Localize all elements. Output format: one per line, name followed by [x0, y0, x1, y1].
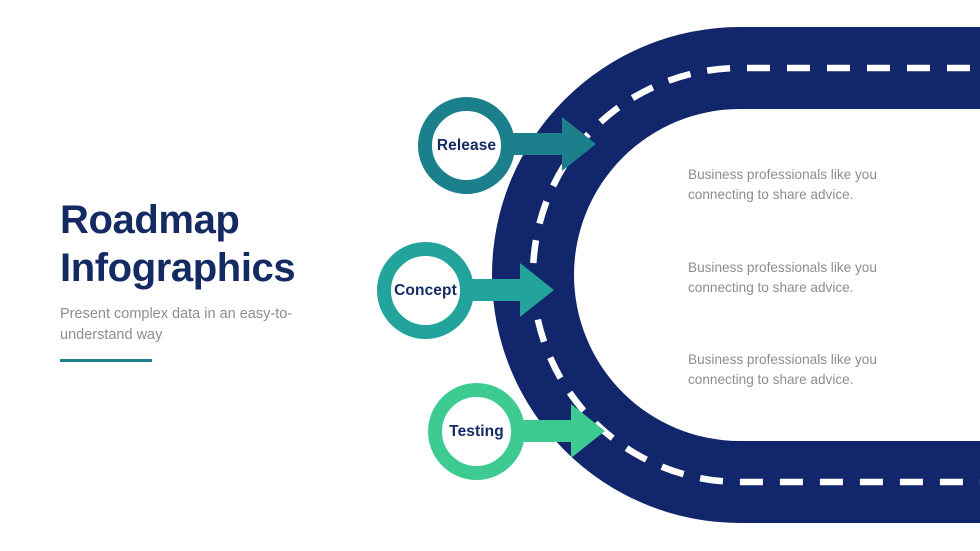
arrow-testing — [521, 400, 607, 462]
page-title: Roadmap Infographics — [60, 196, 360, 292]
title-panel: Roadmap Infographics Present complex dat… — [60, 196, 360, 345]
milestone-label-testing: Testing — [428, 383, 525, 480]
milestone-label-release: Release — [418, 97, 515, 194]
arrow-release — [512, 113, 598, 175]
arrow-concept — [470, 259, 556, 321]
road-note-2: Business professionals like you connecti… — [688, 258, 903, 297]
slide-canvas: Roadmap Infographics Present complex dat… — [0, 0, 980, 551]
road-note-1: Business professionals like you connecti… — [688, 165, 903, 204]
road-note-3: Business professionals like you connecti… — [688, 350, 903, 389]
milestone-label-concept: Concept — [377, 242, 474, 339]
accent-rule — [60, 359, 152, 362]
page-subtitle: Present complex data in an easy-to-under… — [60, 304, 305, 345]
